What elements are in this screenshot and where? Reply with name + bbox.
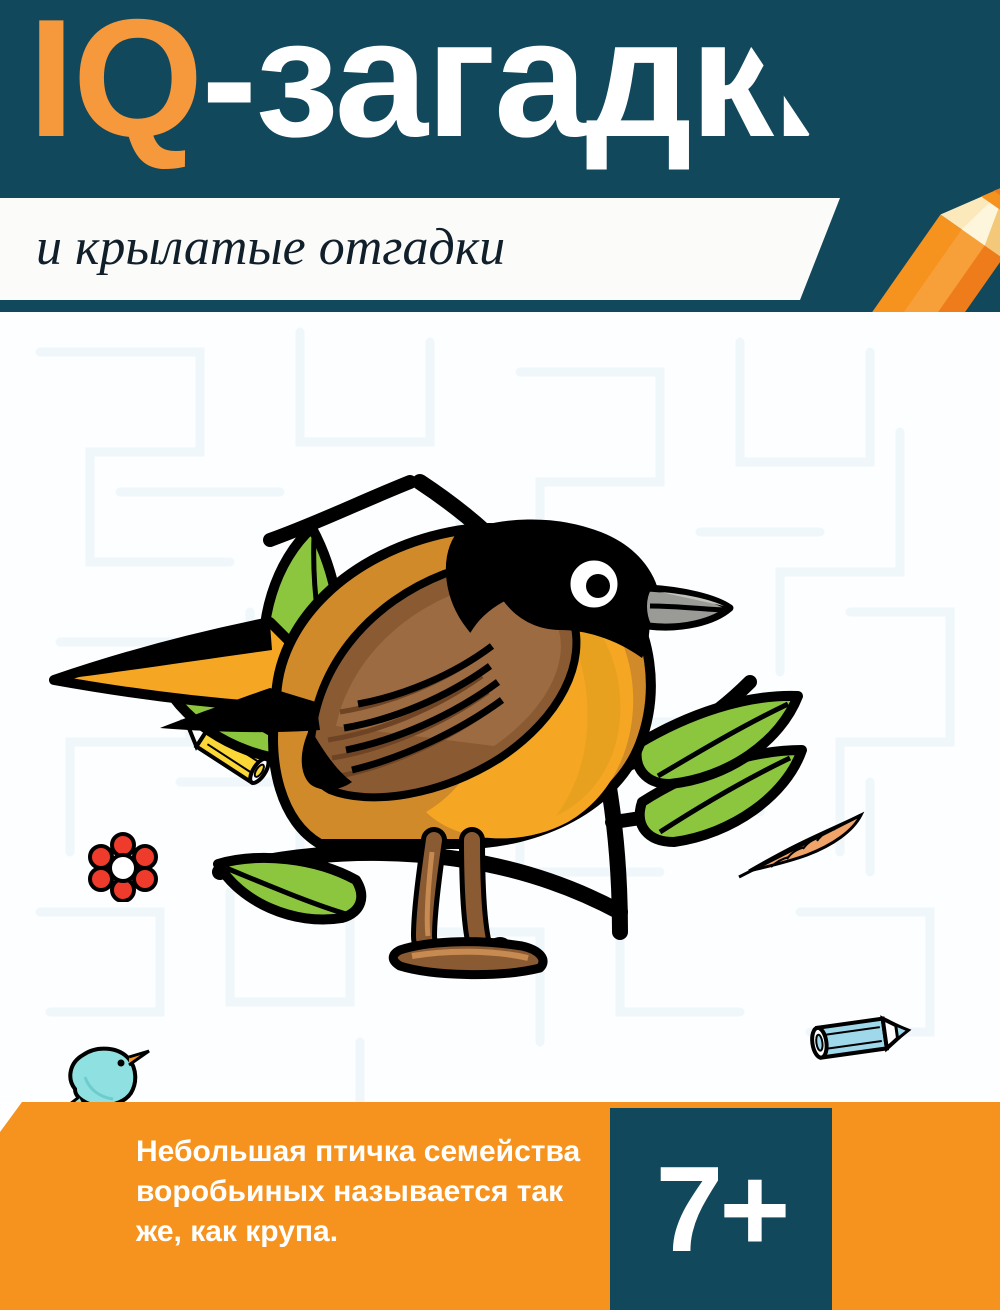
leaf-group-right xyxy=(637,696,802,842)
cyan-bird-icon xyxy=(55,1027,165,1102)
book-cover: IQ-загадки и крылатые отгадки xyxy=(0,0,1000,1310)
blue-pencil-icon xyxy=(805,1002,915,1072)
title-iq: IQ xyxy=(28,0,201,172)
age-rating: 7+ xyxy=(610,1108,832,1310)
subtitle: и крылатые отгадки xyxy=(36,218,505,277)
riddle-text: Небольшая птичка семейства воробьиных на… xyxy=(136,1132,586,1252)
illustration-area xyxy=(0,312,1000,1102)
main-bird-illustration xyxy=(20,372,840,1012)
bird-body xyxy=(54,523,730,974)
leaf-group-bottom-left xyxy=(218,858,361,920)
